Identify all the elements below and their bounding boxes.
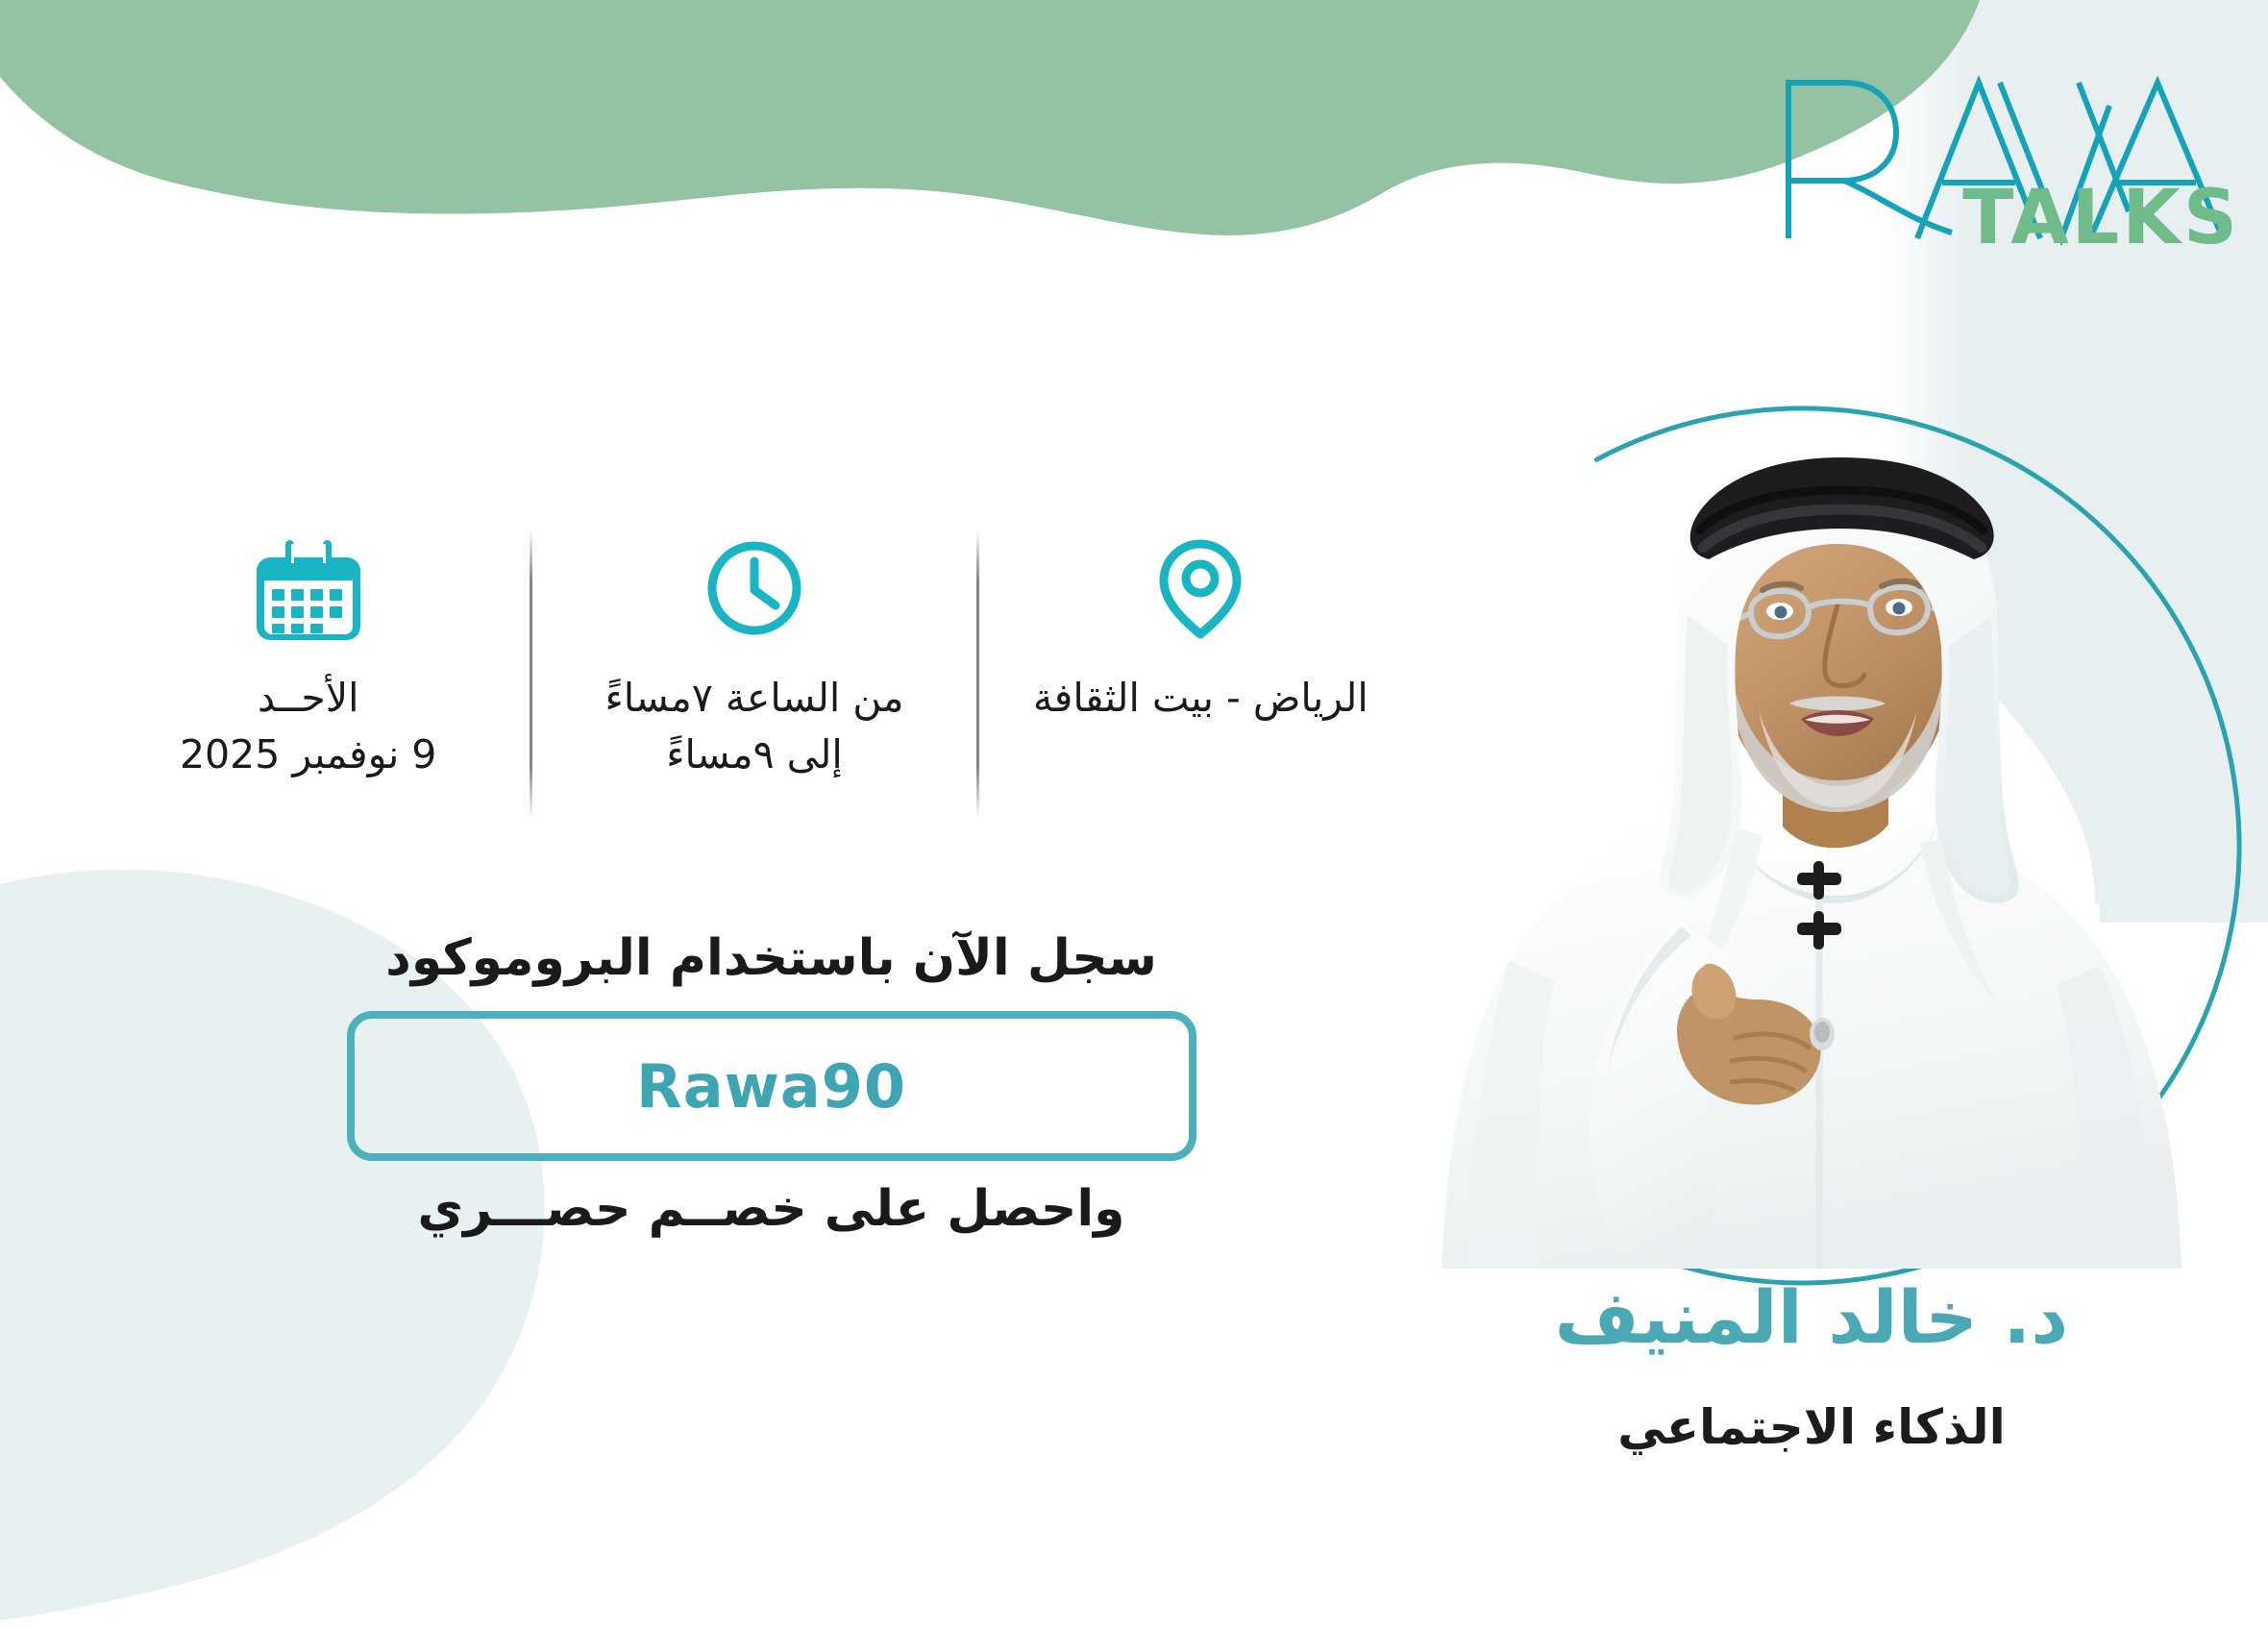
info-location: الرياض - بيت الثقافة [979, 524, 1422, 727]
location-pin-icon [1146, 531, 1254, 645]
calendar-icon [255, 531, 362, 645]
poster-canvas: TALKS [0, 0, 2268, 1628]
time-to-label: إلى ٩مساءً [666, 727, 842, 783]
brand-logo: TALKS [1773, 67, 2244, 250]
promo-subline: واحصل على خصــم حصـــري [417, 1178, 1124, 1241]
location-venue-label: الرياض - بيت الثقافة [1033, 670, 1368, 727]
date-full-label: 9 نوفمبر 2025 [180, 727, 436, 783]
speaker-name: د. خالد المنيف [1413, 1273, 2210, 1361]
date-day-label: الأحــد [258, 670, 359, 727]
talks-wordmark: TALKS [1962, 181, 2240, 256]
speaker-portrait [1393, 423, 2220, 1288]
green-wave-blob [0, 0, 1980, 235]
speaker-topic: الذكاء الاجتماعي [1413, 1398, 2210, 1456]
event-info-row: الأحــد 9 نوفمبر 2025 من الساعة ٧مساءً إ… [86, 524, 1422, 831]
promo-block: سجل الآن باستخدام البروموكود Rawa90 واحص… [317, 927, 1225, 1241]
promo-code-value: Rawa90 [636, 1051, 906, 1122]
promo-code-box[interactable]: Rawa90 [347, 1011, 1196, 1161]
info-date: الأحــد 9 نوفمبر 2025 [86, 524, 530, 784]
clock-icon [701, 531, 808, 645]
info-time: من الساعة ٧مساءً إلى ٩مساءً [532, 524, 975, 784]
lapel-mic-icon [1810, 1018, 1835, 1050]
time-from-label: من الساعة ٧مساءً [605, 670, 904, 727]
promo-headline: سجل الآن باستخدام البروموكود [385, 927, 1157, 990]
